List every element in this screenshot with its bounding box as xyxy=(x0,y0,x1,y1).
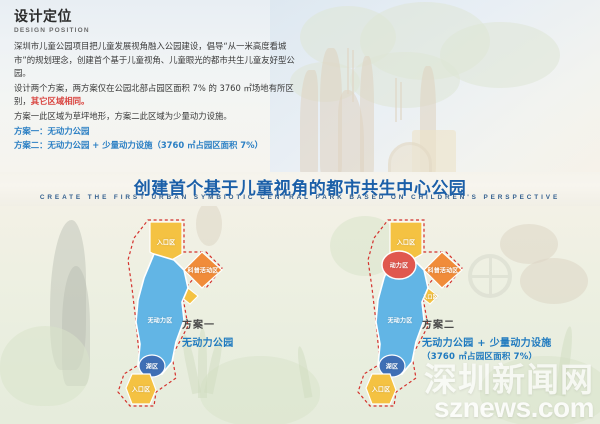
paragraph-1: 深圳市儿童公园项目把儿童发展视角融入公园建设，倡导“从一米高度看城市”的规划理念… xyxy=(14,40,304,81)
log-icon xyxy=(500,224,558,264)
hanging-vine-icon xyxy=(395,78,397,122)
bush-icon xyxy=(480,356,600,424)
zone-label-entrance-north: 入口区 xyxy=(397,238,416,247)
zone-label-entrance-south: 入口区 xyxy=(372,385,391,394)
plan-two-scheme-number: 方案二 xyxy=(422,316,552,331)
paragraph-3: 方案一此区域为草坪地形，方案二此区域为少量动力设施。 xyxy=(14,110,304,124)
plan-two-scheme-sub: （3760 ㎡占园区面积 7%） xyxy=(422,350,552,362)
bush-icon xyxy=(0,326,90,406)
description-body: 深圳市儿童公园项目把儿童发展视角融入公园建设，倡导“从一米高度看城市”的规划理念… xyxy=(14,40,304,154)
top-section: 设计定位 DESIGN POSITION 深圳市儿童公园项目把儿童发展视角融入公… xyxy=(0,0,600,176)
plan-one-caption: 方案一 无动力公园 xyxy=(182,316,234,349)
section-heading-cn: 设计定位 xyxy=(14,10,214,25)
zone-label-entrance-mid: 入口区 xyxy=(422,294,438,301)
paragraph-2-emphasis: 其它区域相同。 xyxy=(31,96,90,106)
paragraph-2: 设计两个方案，两方案仅在公园北部占园区面积 7% 的 3760 ㎡场地有所区别，… xyxy=(14,82,304,109)
log-icon xyxy=(520,258,588,304)
zone-label-science-activity: 科普活动区 xyxy=(187,266,218,275)
zone-label-non-powered: 无动力区 xyxy=(388,316,413,325)
hanging-vine-icon xyxy=(347,48,349,94)
plan-one-scheme-name: 无动力公园 xyxy=(182,334,234,349)
plan-two-scheme-name: 无动力公园 + 少量动力设施 xyxy=(422,334,552,349)
plans-section: 入口区 科普活动区 无动力区 湖区 入口区 方案一 无动力公园 入口区 xyxy=(0,206,600,424)
zone-label-non-powered: 无动力区 xyxy=(148,316,173,325)
banner-title-bar: 创建首个基于儿童视角的都市共生中心公园 CREATE THE FIRST URB… xyxy=(0,172,600,206)
zone-label-science-activity: 科普活动区 xyxy=(427,266,458,275)
poster-page: 设计定位 DESIGN POSITION 深圳市儿童公园项目把儿童发展视角融入公… xyxy=(0,0,600,424)
zone-label-entrance-south: 入口区 xyxy=(132,385,151,394)
zone-label-powered: 动力区 xyxy=(390,261,409,270)
hanging-vine-icon xyxy=(400,82,402,120)
paragraph-5-scheme-two: 方案二：无动力公园 + 少量动力设施（3760 ㎡占园区面积 7%） xyxy=(14,139,304,153)
section-heading-en: DESIGN POSITION xyxy=(14,27,214,34)
banner-title-en: CREATE THE FIRST URBAN SYMBIOTIC CENTRAL… xyxy=(0,194,600,201)
section-heading: 设计定位 DESIGN POSITION xyxy=(14,10,214,34)
zone-label-lake: 湖区 xyxy=(146,362,158,371)
hanging-vine-icon xyxy=(352,50,354,102)
plan-one-scheme-number: 方案一 xyxy=(182,316,234,331)
paragraph-4-scheme-one: 方案一：无动力公园 xyxy=(14,125,304,139)
plan-two-caption: 方案二 无动力公园 + 少量动力设施 （3760 ㎡占园区面积 7%） xyxy=(422,316,552,362)
zone-label-entrance-north: 入口区 xyxy=(157,238,176,247)
zone-label-lake: 湖区 xyxy=(386,362,398,371)
